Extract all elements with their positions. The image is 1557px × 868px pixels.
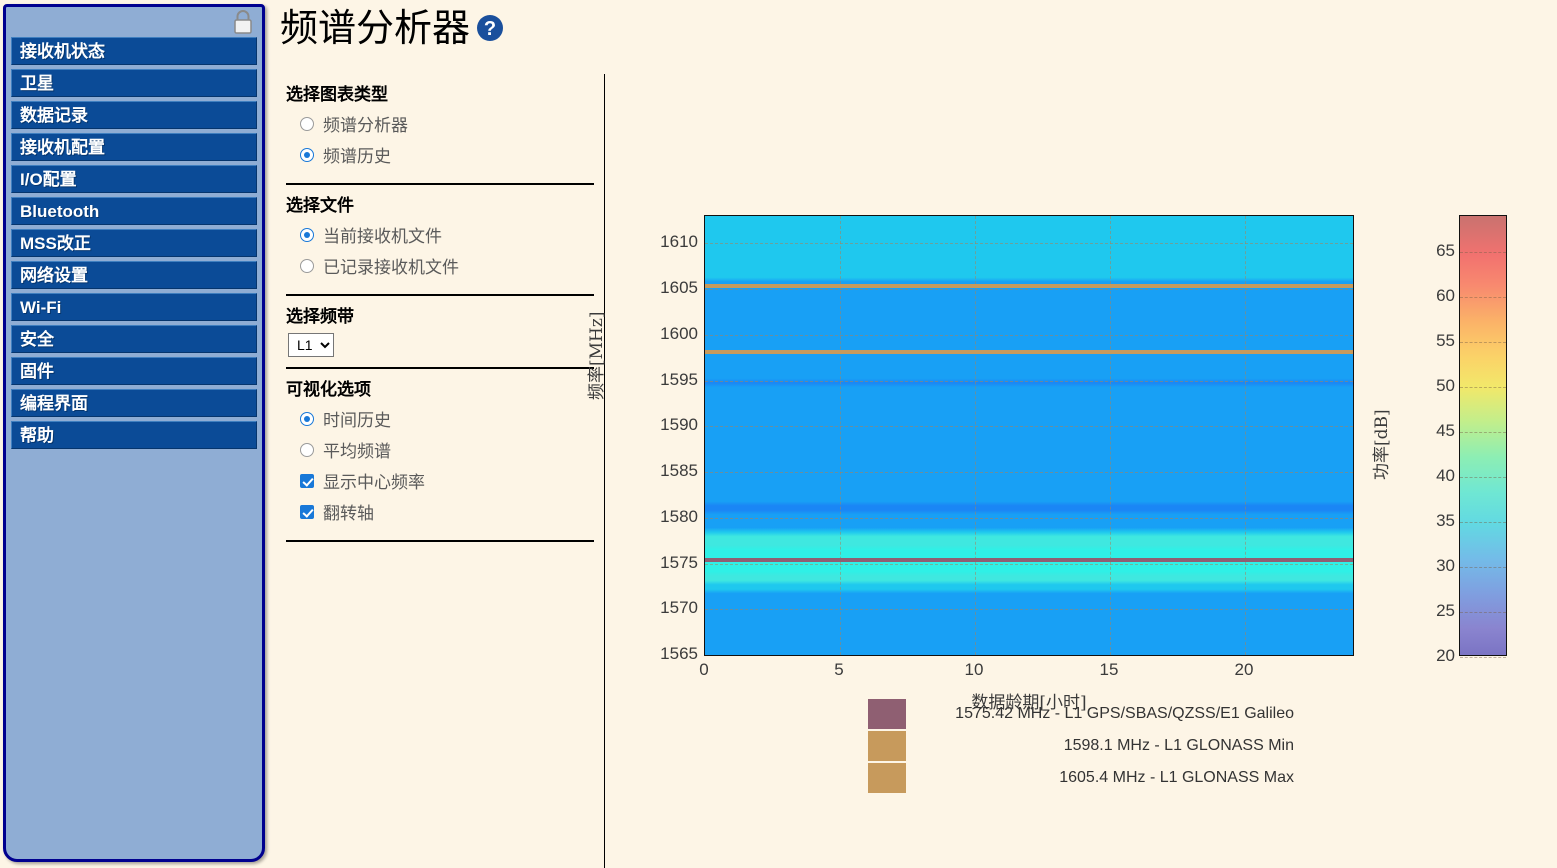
- sidebar-item-receiver-configuration[interactable]: 接收机配置: [11, 133, 257, 161]
- radio-label: 已记录接收机文件: [323, 253, 459, 278]
- legend-label: 1598.1 MHz - L1 GLONASS Min: [912, 737, 1307, 755]
- sidebar-item-mss-corrections[interactable]: MSS改正: [11, 229, 257, 257]
- radio-visualization-time-history[interactable]: 时间历史: [300, 406, 594, 431]
- sidebar-item-bluetooth[interactable]: Bluetooth: [11, 197, 257, 225]
- sidebar-item-io-configuration[interactable]: I/O配置: [11, 165, 257, 193]
- radio-label: 平均频谱: [323, 437, 391, 462]
- radio-label: 当前接收机文件: [323, 222, 442, 247]
- x-axis-tick-label: 10: [965, 660, 984, 680]
- x-axis-tick-label: 0: [699, 660, 708, 680]
- y-axis-tick-label: 1605: [642, 278, 698, 298]
- colorbar-tick-label: 60: [1399, 286, 1455, 306]
- legend-item: 1575.42 MHz - L1 GPS/SBAS/QZSS/E1 Galile…: [868, 698, 1307, 730]
- colorbar-label: 功率[dB]: [1367, 409, 1392, 480]
- band-group: 选择频带 L1L2L5: [286, 294, 594, 367]
- legend-label: 1605.4 MHz - L1 GLONASS Max: [912, 769, 1307, 787]
- gridline-horizontal: [705, 335, 1353, 336]
- sidebar-menu: 接收机状态卫星数据记录接收机配置I/O配置BluetoothMSS改正网络设置W…: [6, 37, 262, 449]
- radio-icon-selected[interactable]: [300, 148, 314, 162]
- checkbox-icon-checked[interactable]: [300, 505, 314, 519]
- page-header: 频谱分析器 ?: [280, 0, 506, 56]
- colorbar-gridline: [1460, 522, 1506, 523]
- legend-label: 1575.42 MHz - L1 GPS/SBAS/QZSS/E1 Galile…: [912, 705, 1307, 723]
- band-title: 选择频带: [286, 302, 594, 327]
- y-axis-tick-label: 1575: [642, 553, 698, 573]
- gridline-horizontal: [705, 426, 1353, 427]
- band-select[interactable]: L1L2L5: [288, 333, 334, 357]
- chart-legend: 1575.42 MHz - L1 GPS/SBAS/QZSS/E1 Galile…: [868, 698, 1307, 794]
- colorbar-tick-label: 20: [1399, 646, 1455, 666]
- legend-item: 1605.4 MHz - L1 GLONASS Max: [868, 762, 1307, 794]
- radio-icon[interactable]: [300, 259, 314, 273]
- radio-file-logged-receiver[interactable]: 已记录接收机文件: [300, 253, 594, 278]
- page-title: 频谱分析器: [280, 9, 470, 47]
- options-panel: 选择图表类型 频谱分析器 频谱历史 选择文件 当前接收机文件 已记录接收机文件 …: [286, 80, 594, 542]
- sidebar-item-receiver-status[interactable]: 接收机状态: [11, 37, 257, 65]
- y-axis-tick-label: 1590: [642, 415, 698, 435]
- colorbar-tick-label: 25: [1399, 601, 1455, 621]
- visualization-title: 可视化选项: [286, 375, 594, 400]
- gridline-horizontal: [705, 609, 1353, 610]
- colorbar-gridline: [1460, 432, 1506, 433]
- colorbar: [1459, 215, 1507, 656]
- legend-item: 1598.1 MHz - L1 GLONASS Min: [868, 730, 1307, 762]
- colorbar-gridline: [1460, 297, 1506, 298]
- radio-label: 频谱历史: [323, 142, 391, 167]
- sidebar-item-data-logging[interactable]: 数据记录: [11, 101, 257, 129]
- colorbar-tick-label: 55: [1399, 331, 1455, 351]
- gridline-horizontal: [705, 518, 1353, 519]
- colorbar-gridline: [1460, 657, 1506, 658]
- radio-label: 时间历史: [323, 406, 391, 431]
- x-axis-ticks: 05101520: [704, 660, 1354, 684]
- colorbar-tick-label: 30: [1399, 556, 1455, 576]
- sidebar: 接收机状态卫星数据记录接收机配置I/O配置BluetoothMSS改正网络设置W…: [3, 4, 265, 862]
- heatmap-plot[interactable]: [704, 215, 1354, 656]
- colorbar-ticks: 20253035404550556065: [1395, 215, 1455, 656]
- gridline-horizontal: [705, 472, 1353, 473]
- colorbar-gridline: [1460, 342, 1506, 343]
- colorbar-gridline: [1460, 612, 1506, 613]
- gridline-horizontal: [705, 655, 1353, 656]
- y-axis-tick-label: 1580: [642, 507, 698, 527]
- visualization-group: 可视化选项 时间历史 平均频谱 显示中心频率 翻转轴: [286, 367, 594, 542]
- x-axis-tick-label: 15: [1100, 660, 1119, 680]
- radio-icon-selected[interactable]: [300, 412, 314, 426]
- checkbox-flip-axis[interactable]: 翻转轴: [300, 499, 594, 524]
- y-axis-tick-label: 1595: [642, 370, 698, 390]
- help-circle-icon[interactable]: ?: [474, 12, 506, 44]
- frequency-marker-line: [705, 284, 1353, 288]
- radio-icon[interactable]: [300, 443, 314, 457]
- gridline-vertical: [1110, 216, 1111, 655]
- legend-color-swatch: [868, 731, 906, 761]
- gridline-horizontal: [705, 243, 1353, 244]
- radio-visualization-average-spectrum[interactable]: 平均频谱: [300, 437, 594, 462]
- gridline-horizontal: [705, 564, 1353, 565]
- y-axis-tick-label: 1565: [642, 644, 698, 664]
- radio-file-current-receiver[interactable]: 当前接收机文件: [300, 222, 594, 247]
- checkbox-label: 显示中心频率: [323, 468, 425, 493]
- checkbox-label: 翻转轴: [323, 499, 374, 524]
- sidebar-header: [6, 7, 262, 37]
- colorbar-tick-label: 40: [1399, 466, 1455, 486]
- y-axis-tick-label: 1585: [642, 461, 698, 481]
- sidebar-item-satellites[interactable]: 卫星: [11, 69, 257, 97]
- gridline-vertical: [1245, 216, 1246, 655]
- sidebar-item-wifi[interactable]: Wi-Fi: [11, 293, 257, 321]
- colorbar-tick-label: 45: [1399, 421, 1455, 441]
- colorbar-gridline: [1460, 477, 1506, 478]
- file-title: 选择文件: [286, 191, 594, 216]
- colorbar-tick-label: 50: [1399, 376, 1455, 396]
- legend-color-swatch: [868, 763, 906, 793]
- legend-color-swatch: [868, 699, 906, 729]
- sidebar-item-security[interactable]: 安全: [11, 325, 257, 353]
- y-axis-ticks: 1565157015751580158515901595160016051610: [638, 215, 698, 656]
- radio-chart-type-spectrum-analyzer[interactable]: 频谱分析器: [300, 111, 594, 136]
- colorbar-gridline: [1460, 567, 1506, 568]
- heatmap-image: [705, 216, 1353, 655]
- gridline-vertical: [840, 216, 841, 655]
- colorbar-gridline: [1460, 252, 1506, 253]
- x-axis-tick-label: 5: [834, 660, 843, 680]
- gridline-horizontal: [705, 381, 1353, 382]
- chart-type-group: 选择图表类型 频谱分析器 频谱历史: [286, 80, 594, 183]
- checkbox-icon-checked[interactable]: [300, 474, 314, 488]
- svg-text:?: ?: [484, 18, 496, 40]
- padlock-icon[interactable]: [232, 9, 254, 35]
- colorbar-gridline: [1460, 387, 1506, 388]
- sidebar-item-help[interactable]: 帮助: [11, 421, 257, 449]
- y-axis-tick-label: 1570: [642, 598, 698, 618]
- y-axis-tick-label: 1600: [642, 324, 698, 344]
- frequency-marker-line: [705, 350, 1353, 354]
- gridline-vertical: [975, 216, 976, 655]
- radio-icon[interactable]: [300, 117, 314, 131]
- frequency-marker-line: [705, 558, 1353, 562]
- colorbar-tick-label: 35: [1399, 511, 1455, 531]
- sidebar-item-programming-interface[interactable]: 编程界面: [11, 389, 257, 417]
- radio-label: 频谱分析器: [323, 111, 408, 136]
- y-axis-tick-label: 1610: [642, 232, 698, 252]
- sidebar-item-firmware[interactable]: 固件: [11, 357, 257, 385]
- gridline-horizontal: [705, 289, 1353, 290]
- colorbar-tick-label: 65: [1399, 241, 1455, 261]
- file-group: 选择文件 当前接收机文件 已记录接收机文件: [286, 183, 594, 294]
- checkbox-show-center-frequency[interactable]: 显示中心频率: [300, 468, 594, 493]
- sidebar-item-network-settings[interactable]: 网络设置: [11, 261, 257, 289]
- spectrum-history-chart: 1565157015751580158515901595160016051610…: [605, 0, 1557, 868]
- y-axis-label: 频率[MHz]: [582, 312, 607, 400]
- x-axis-tick-label: 20: [1235, 660, 1254, 680]
- chart-type-title: 选择图表类型: [286, 80, 594, 105]
- radio-chart-type-spectrum-history[interactable]: 频谱历史: [300, 142, 594, 167]
- radio-icon-selected[interactable]: [300, 228, 314, 242]
